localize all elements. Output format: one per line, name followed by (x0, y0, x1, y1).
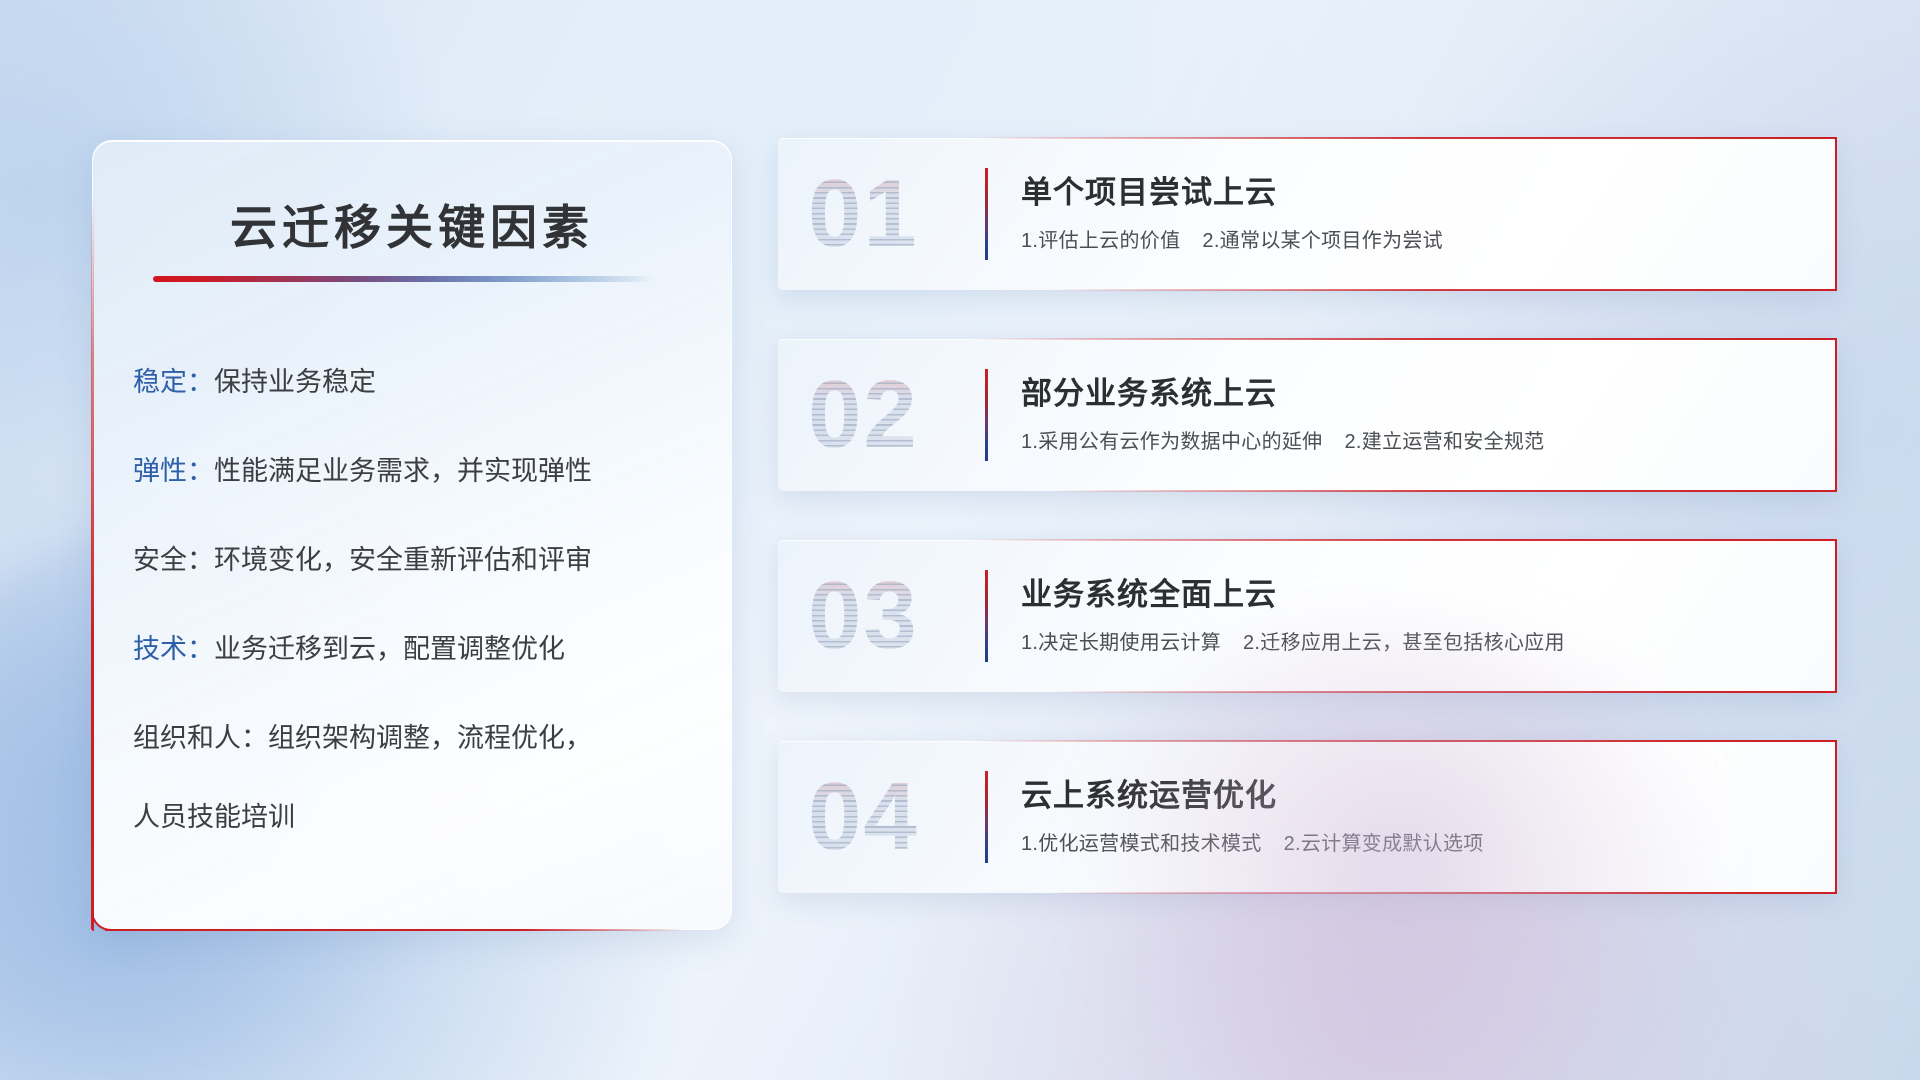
step-card-03[interactable]: 03 业务系统全面上云 1.决定长期使用云计算2.迁移应用上云，甚至包括核心应用 (778, 540, 1836, 692)
list-item: 稳定： 保持业务稳定 (133, 369, 701, 396)
factor-text: 组织架构调整，流程优化， (268, 725, 592, 752)
card-right-accent (1835, 740, 1837, 894)
card-right-accent (1835, 539, 1837, 693)
step-point-1: 1.决定长期使用云计算 (1021, 632, 1221, 654)
step-title: 单个项目尝试上云 (1021, 175, 1810, 211)
card-divider-bar (985, 369, 988, 461)
panel-corner-accent (91, 897, 125, 931)
card-right-accent (1835, 338, 1837, 492)
list-item: 人员技能培训 (133, 804, 701, 831)
list-item: 组织和人： 组织架构调整，流程优化， (133, 725, 701, 752)
step-title: 部分业务系统上云 (1021, 376, 1810, 412)
card-body: 业务系统全面上云 1.决定长期使用云计算2.迁移应用上云，甚至包括核心应用 (1021, 540, 1810, 692)
factor-label: 技术： (133, 636, 214, 663)
panel-left-accent-line (91, 195, 94, 931)
step-number: 04 (808, 769, 919, 865)
factor-text: 人员技能培训 (133, 804, 295, 831)
card-right-accent (1835, 137, 1837, 291)
step-point-2: 2.迁移应用上云，甚至包括核心应用 (1243, 632, 1565, 654)
step-card-02[interactable]: 02 部分业务系统上云 1.采用公有云作为数据中心的延伸2.建立运营和安全规范 (778, 339, 1836, 491)
card-divider-bar (985, 771, 988, 863)
page-title: 云迁移关键因素 (93, 189, 731, 258)
factor-label: 稳定： (133, 369, 214, 396)
factor-label: 弹性： (133, 458, 214, 485)
step-point-2: 2.通常以某个项目作为尝试 (1202, 230, 1443, 252)
key-factors-list: 稳定： 保持业务稳定 弹性： 性能满足业务需求，并实现弹性 安全： 环境变化，安… (133, 369, 701, 831)
card-divider-bar (985, 570, 988, 662)
step-point-2: 2.云计算变成默认选项 (1284, 833, 1484, 855)
factor-text: 业务迁移到云，配置调整优化 (214, 636, 565, 663)
step-card-04[interactable]: 04 云上系统运营优化 1.优化运营模式和技术模式2.云计算变成默认选项 (778, 741, 1836, 893)
list-item: 弹性： 性能满足业务需求，并实现弹性 (133, 458, 701, 485)
factor-label: 安全： (133, 547, 214, 574)
card-divider-bar (985, 168, 988, 260)
factor-text: 性能满足业务需求，并实现弹性 (214, 458, 592, 485)
slide-canvas: 云迁移关键因素 稳定： 保持业务稳定 弹性： 性能满足业务需求，并实现弹性 安全… (0, 0, 1920, 1080)
step-description: 1.评估上云的价值2.通常以某个项目作为尝试 (1021, 224, 1810, 253)
step-number: 02 (808, 367, 919, 463)
migration-steps-list: 01 单个项目尝试上云 1.评估上云的价值2.通常以某个项目作为尝试 02 部分… (778, 138, 1836, 893)
step-number: 01 (808, 166, 919, 262)
step-title: 云上系统运营优化 (1021, 778, 1810, 814)
list-item: 技术： 业务迁移到云，配置调整优化 (133, 636, 701, 663)
step-description: 1.优化运营模式和技术模式2.云计算变成默认选项 (1021, 827, 1810, 856)
step-point-1: 1.评估上云的价值 (1021, 230, 1180, 252)
step-title: 业务系统全面上云 (1021, 577, 1810, 613)
step-card-01[interactable]: 01 单个项目尝试上云 1.评估上云的价值2.通常以某个项目作为尝试 (778, 138, 1836, 290)
step-description: 1.采用公有云作为数据中心的延伸2.建立运营和安全规范 (1021, 425, 1810, 454)
title-gradient-rule (153, 276, 653, 282)
step-point-2: 2.建立运营和安全规范 (1344, 431, 1544, 453)
card-body: 云上系统运营优化 1.优化运营模式和技术模式2.云计算变成默认选项 (1021, 741, 1810, 893)
list-item: 安全： 环境变化，安全重新评估和评审 (133, 547, 701, 574)
card-body: 单个项目尝试上云 1.评估上云的价值2.通常以某个项目作为尝试 (1021, 138, 1810, 290)
step-point-1: 1.采用公有云作为数据中心的延伸 (1021, 431, 1322, 453)
step-point-1: 1.优化运营模式和技术模式 (1021, 833, 1262, 855)
panel-bottom-accent-line (105, 929, 685, 932)
factor-text: 保持业务稳定 (214, 369, 376, 396)
card-body: 部分业务系统上云 1.采用公有云作为数据中心的延伸2.建立运营和安全规范 (1021, 339, 1810, 491)
factor-label: 组织和人： (133, 725, 268, 752)
factor-text: 环境变化，安全重新评估和评审 (214, 547, 592, 574)
key-factors-panel: 云迁移关键因素 稳定： 保持业务稳定 弹性： 性能满足业务需求，并实现弹性 安全… (92, 140, 732, 930)
step-description: 1.决定长期使用云计算2.迁移应用上云，甚至包括核心应用 (1021, 626, 1810, 655)
step-number: 03 (808, 568, 919, 664)
